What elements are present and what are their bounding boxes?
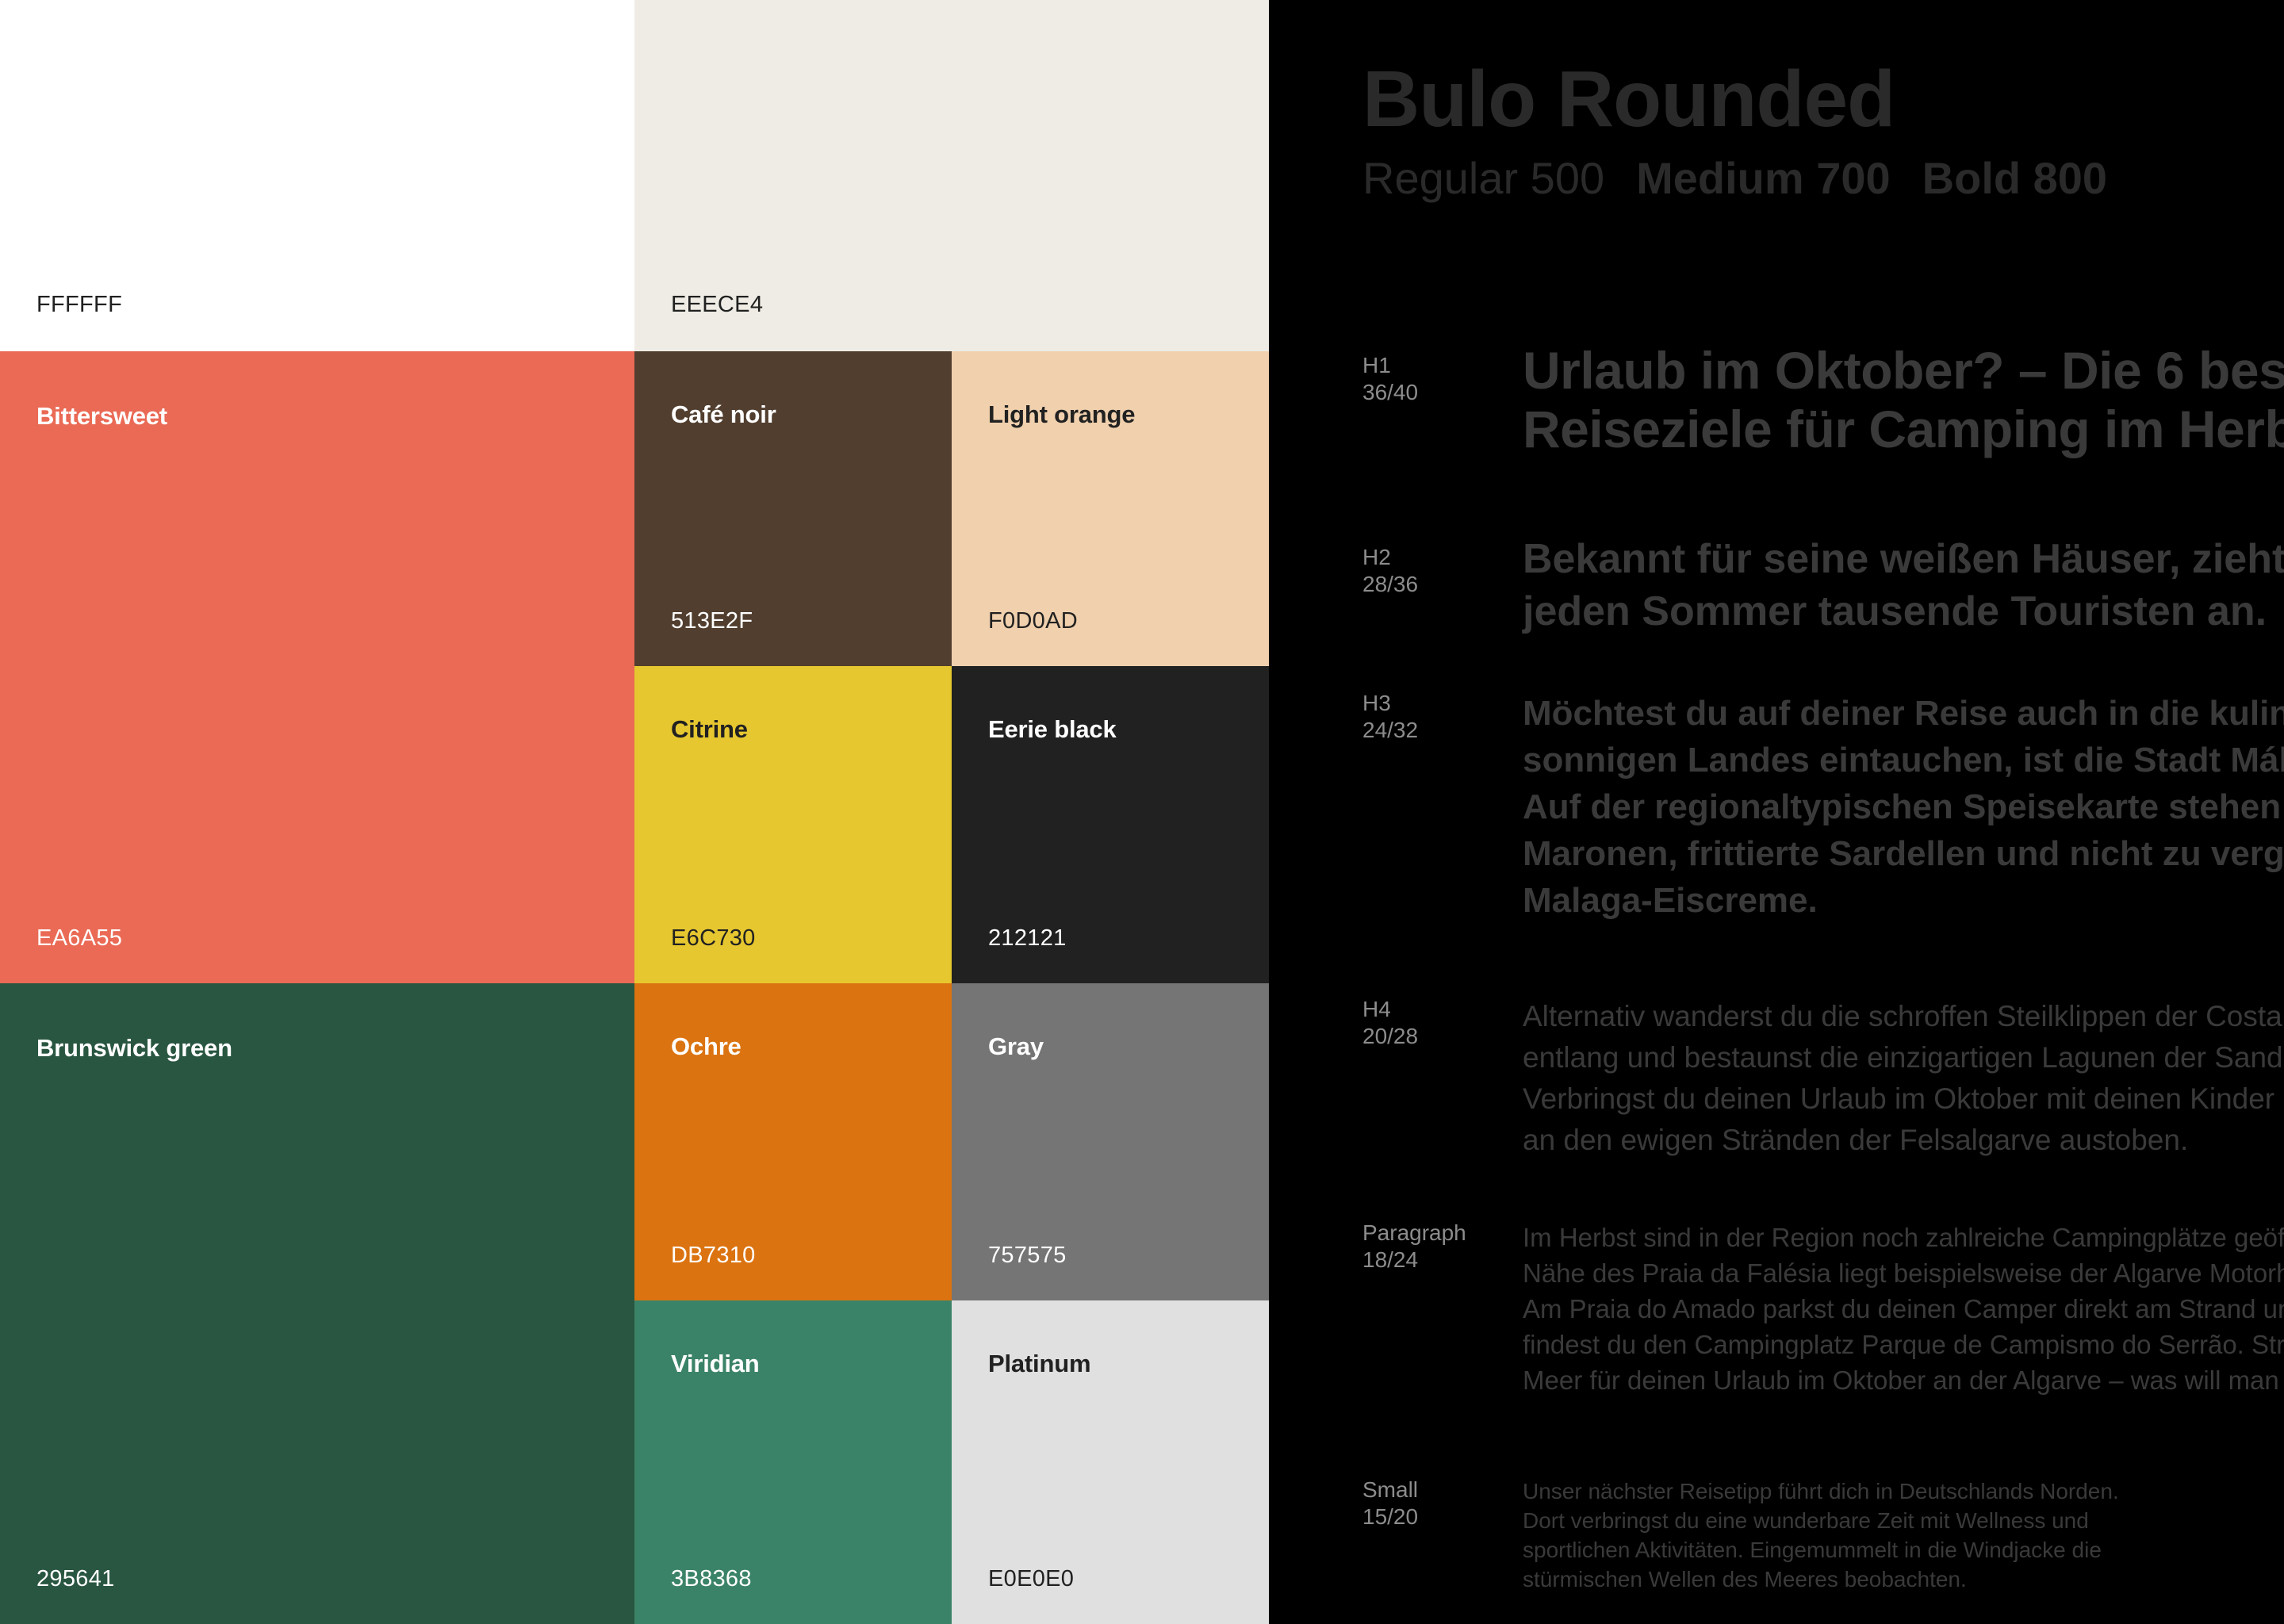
swatch-hex-code: 513E2F <box>671 608 753 634</box>
specimen-size: 20/28 <box>1362 1023 1521 1050</box>
specimen-label: H324/32 <box>1362 690 1521 744</box>
specimen-label: H420/28 <box>1362 996 1521 1050</box>
color-swatch: PlatinumE0E0E0 <box>952 1300 1269 1624</box>
swatch-hex-code: E6C730 <box>671 925 756 952</box>
specimen-line: Unser nächster Reisetipp führt dich in D… <box>1523 1477 2284 1506</box>
color-swatch: Brunswick green295641 <box>0 983 634 1624</box>
specimen-line: findest du den Campingplatz Parque de Ca… <box>1523 1327 2284 1362</box>
specimen-line: Reiseziele für Camping im Herbs <box>1523 400 2284 458</box>
color-swatch: BittersweetEA6A55 <box>0 351 634 983</box>
specimen-line: jeden Sommer tausende Touristen an. <box>1523 585 2284 638</box>
color-swatch: Café noir513E2F <box>634 351 952 666</box>
specimen-line: Malaga-Eiscreme. <box>1523 877 2284 924</box>
weight-medium: Medium 700 <box>1636 153 1891 203</box>
specimen-line: Auf der regionaltypischen Speisekarte st… <box>1523 783 2284 830</box>
weight-bold: Bold 800 <box>1922 153 2107 203</box>
swatch-name: Platinum <box>988 1350 1090 1378</box>
color-swatch: EEECE4 <box>634 0 1269 351</box>
specimen-sample-text: Urlaub im Oktober? – Die 6 bestReiseziel… <box>1523 341 2284 458</box>
swatch-hex-code: 295641 <box>36 1566 115 1592</box>
typography-panel: Bulo Rounded Regular 500Medium 700Bold 8… <box>1269 0 2284 1624</box>
specimen-label: H136/40 <box>1362 352 1521 406</box>
swatch-hex-code: EEECE4 <box>671 292 763 318</box>
typeface-name: Bulo Rounded <box>1362 57 2284 141</box>
specimen-line: entlang und bestaunst die einzigartigen … <box>1523 1037 2284 1078</box>
specimen-line: Im Herbst sind in der Region noch zahlre… <box>1523 1220 2284 1255</box>
specimen-size: 36/40 <box>1362 379 1521 406</box>
specimen-line: Verbringst du deinen Urlaub im Oktober m… <box>1523 1078 2284 1120</box>
swatch-name: Bittersweet <box>36 402 167 431</box>
specimen-line: Am Praia do Amado parkst du deinen Campe… <box>1523 1291 2284 1327</box>
specimen-size: 15/20 <box>1362 1503 1521 1530</box>
specimen-level: H2 <box>1362 544 1521 571</box>
swatch-hex-code: 757575 <box>988 1243 1067 1269</box>
swatch-hex-code: F0D0AD <box>988 608 1078 634</box>
typeface-header: Bulo Rounded Regular 500Medium 700Bold 8… <box>1362 57 2284 203</box>
specimen-level: H3 <box>1362 690 1521 717</box>
specimen-line: Maronen, frittierte Sardellen und nicht … <box>1523 830 2284 877</box>
swatch-name: Citrine <box>671 715 748 744</box>
specimen-line: sportlichen Aktivitäten. Eingemummelt in… <box>1523 1535 2284 1565</box>
specimen-line: Bekannt für seine weißen Häuser, zieht d… <box>1523 533 2284 585</box>
specimen-level: H4 <box>1362 996 1521 1023</box>
specimen-sample-text: Bekannt für seine weißen Häuser, zieht d… <box>1523 533 2284 638</box>
specimen-sample-text: Möchtest du auf deiner Reise auch in die… <box>1523 690 2284 924</box>
swatch-hex-code: FFFFFF <box>36 292 122 318</box>
specimen-level: Paragraph <box>1362 1220 1521 1247</box>
specimen-line: Urlaub im Oktober? – Die 6 best <box>1523 341 2284 400</box>
specimen-sample-text: Alternativ wanderst du die schroffen Ste… <box>1523 996 2284 1161</box>
swatch-name: Café noir <box>671 400 776 429</box>
specimen-size: 28/36 <box>1362 571 1521 598</box>
color-swatch: Eerie black212121 <box>952 666 1269 983</box>
specimen-label: Small15/20 <box>1362 1477 1521 1530</box>
swatch-name: Viridian <box>671 1350 760 1378</box>
color-palette: FFFFFFEEECE4BittersweetEA6A55Brunswick g… <box>0 0 1269 1624</box>
swatch-hex-code: E0E0E0 <box>988 1566 1074 1592</box>
color-swatch: FFFFFF <box>0 0 634 351</box>
color-swatch: Viridian3B8368 <box>634 1300 952 1624</box>
swatch-name: Ochre <box>671 1032 742 1061</box>
specimen-size: 24/32 <box>1362 717 1521 744</box>
specimen-sample-text: Im Herbst sind in der Region noch zahlre… <box>1523 1220 2284 1398</box>
weight-list: Regular 500Medium 700Bold 800 <box>1362 154 2284 203</box>
swatch-name: Brunswick green <box>36 1034 232 1063</box>
weight-regular: Regular 500 <box>1362 153 1604 203</box>
swatch-name: Gray <box>988 1032 1044 1061</box>
swatch-name: Light orange <box>988 400 1135 429</box>
specimen-line: an den ewigen Stränden der Felsalgarve a… <box>1523 1120 2284 1161</box>
specimen-line: sonnigen Landes eintauchen, ist die Stad… <box>1523 737 2284 783</box>
specimen-level: Small <box>1362 1477 1521 1503</box>
specimen-label: H228/36 <box>1362 544 1521 598</box>
color-swatch: Gray757575 <box>952 983 1269 1300</box>
swatch-hex-code: 212121 <box>988 925 1067 952</box>
specimen-label: Paragraph18/24 <box>1362 1220 1521 1274</box>
swatch-hex-code: EA6A55 <box>36 925 122 952</box>
specimen-line: Alternativ wanderst du die schroffen Ste… <box>1523 996 2284 1037</box>
specimen-line: Nähe des Praia da Falésia liegt beispiel… <box>1523 1255 2284 1291</box>
specimen-level: H1 <box>1362 352 1521 379</box>
swatch-hex-code: DB7310 <box>671 1243 756 1269</box>
swatch-name: Eerie black <box>988 715 1117 744</box>
specimen-line: Möchtest du auf deiner Reise auch in die… <box>1523 690 2284 737</box>
color-swatch: OchreDB7310 <box>634 983 952 1300</box>
specimen-line: Dort verbringst du eine wunderbare Zeit … <box>1523 1506 2284 1535</box>
color-swatch: CitrineE6C730 <box>634 666 952 983</box>
swatch-hex-code: 3B8368 <box>671 1566 752 1592</box>
specimen-line: Meer für deinen Urlaub im Oktober an der… <box>1523 1362 2284 1398</box>
color-swatch: Light orangeF0D0AD <box>952 351 1269 666</box>
specimen-sample-text: Unser nächster Reisetipp führt dich in D… <box>1523 1477 2284 1594</box>
style-guide-page: FFFFFFEEECE4BittersweetEA6A55Brunswick g… <box>0 0 2284 1624</box>
specimen-line: stürmischen Wellen des Meeres beobachten… <box>1523 1565 2284 1594</box>
specimen-size: 18/24 <box>1362 1247 1521 1274</box>
